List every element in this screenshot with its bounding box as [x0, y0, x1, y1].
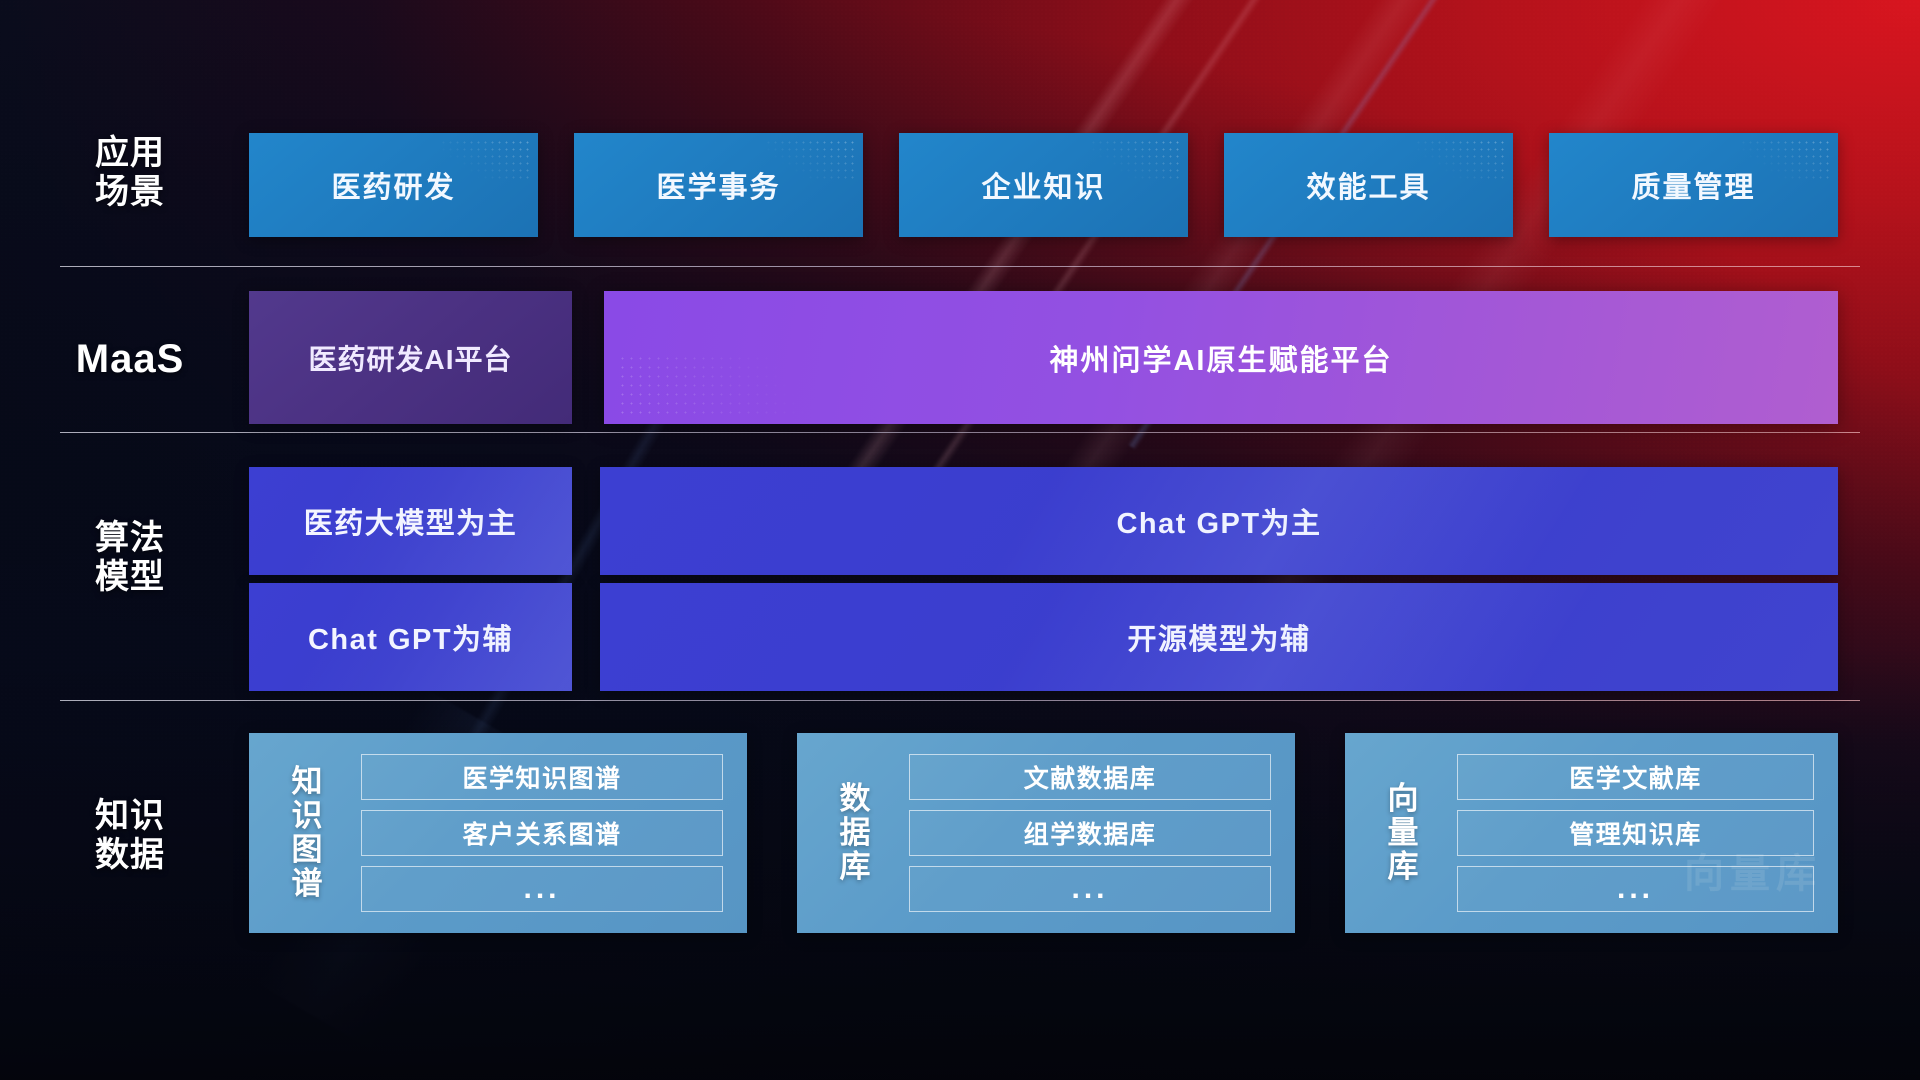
- divider-scenarios-maas: [60, 266, 1860, 267]
- maas-platform-card-shenzhou[interactable]: 神州问学AI原生赋能平台: [604, 291, 1838, 424]
- row-label-algorithm-models: 算法模型: [60, 519, 200, 598]
- row-label-text: 应用场景: [60, 134, 200, 213]
- row-label-maas: MaaS: [60, 336, 200, 382]
- knowledge-item-more[interactable]: ...: [361, 866, 723, 912]
- knowledge-panel-knowledge-graph[interactable]: 知识图谱 医学知识图谱 客户关系图谱 ...: [249, 733, 747, 933]
- panel-title-text: 数据库: [840, 781, 871, 884]
- knowledge-item-label: 文献数据库: [1024, 759, 1157, 795]
- row-label-knowledge-data: 知识数据: [60, 797, 200, 876]
- knowledge-item-label: ...: [1617, 872, 1654, 906]
- panel-title-text: 知识图谱: [292, 764, 323, 901]
- scenario-card-3-label: 企业知识: [981, 164, 1105, 206]
- knowledge-panel-knowledge-graph-items: 医学知识图谱 客户关系图谱 ...: [343, 754, 747, 912]
- knowledge-item-label: 管理知识库: [1569, 815, 1702, 851]
- maas-platform-card-shenzhou-label: 神州问学AI原生赋能平台: [1049, 337, 1392, 379]
- model-card-chatgpt-secondary[interactable]: Chat GPT为辅: [249, 583, 572, 691]
- knowledge-item-label: ...: [523, 872, 560, 906]
- model-card-chatgpt-primary-label: Chat GPT为主: [1116, 500, 1321, 542]
- knowledge-panel-vector-store-items: 医学文献库 管理知识库 ...: [1439, 754, 1838, 912]
- knowledge-panel-knowledge-graph-title: 知识图谱: [271, 765, 343, 901]
- knowledge-panel-database-title: 数据库: [819, 782, 891, 884]
- scenario-card-1-label: 医药研发: [331, 164, 455, 206]
- scenario-card-3[interactable]: 企业知识: [899, 133, 1188, 237]
- model-card-chatgpt-primary[interactable]: Chat GPT为主: [600, 467, 1838, 575]
- knowledge-item-more[interactable]: ...: [909, 866, 1271, 912]
- knowledge-item[interactable]: 文献数据库: [909, 754, 1271, 800]
- scenario-card-5[interactable]: 质量管理: [1549, 133, 1838, 237]
- model-card-chatgpt-secondary-label: Chat GPT为辅: [308, 616, 513, 658]
- row-label-text: 知识数据: [60, 797, 200, 876]
- divider-maas-models: [60, 432, 1860, 433]
- knowledge-panel-database[interactable]: 数据库 文献数据库 组学数据库 ...: [797, 733, 1295, 933]
- knowledge-item[interactable]: 客户关系图谱: [361, 810, 723, 856]
- model-card-medical-primary[interactable]: 医药大模型为主: [249, 467, 572, 575]
- scenario-card-1[interactable]: 医药研发: [249, 133, 538, 237]
- scenario-card-4-label: 效能工具: [1306, 164, 1430, 206]
- divider-models-knowledge: [60, 700, 1860, 701]
- model-card-opensource-secondary[interactable]: 开源模型为辅: [600, 583, 1838, 691]
- knowledge-item[interactable]: 医学知识图谱: [361, 754, 723, 800]
- knowledge-item-more[interactable]: ...: [1457, 866, 1814, 912]
- knowledge-panel-vector-store-title: 向量库: [1367, 782, 1439, 884]
- knowledge-item-label: ...: [1071, 872, 1108, 906]
- row-label-text: 算法模型: [60, 519, 200, 598]
- model-card-opensource-secondary-label: 开源模型为辅: [1127, 616, 1310, 658]
- knowledge-item-label: 医学知识图谱: [462, 759, 621, 795]
- maas-platform-card-medical-rnd-label: 医药研发AI平台: [308, 338, 512, 378]
- model-card-medical-primary-label: 医药大模型为主: [304, 500, 518, 542]
- maas-platform-card-medical-rnd[interactable]: 医药研发AI平台: [249, 291, 572, 424]
- scenario-card-2-label: 医学事务: [656, 164, 780, 206]
- knowledge-item[interactable]: 医学文献库: [1457, 754, 1814, 800]
- knowledge-item[interactable]: 组学数据库: [909, 810, 1271, 856]
- row-label-application-scenarios: 应用场景: [60, 134, 200, 213]
- row-label-text: MaaS: [60, 336, 200, 382]
- knowledge-item-label: 组学数据库: [1024, 815, 1157, 851]
- knowledge-panel-database-items: 文献数据库 组学数据库 ...: [891, 754, 1295, 912]
- scenario-card-2[interactable]: 医学事务: [574, 133, 863, 237]
- knowledge-item-label: 客户关系图谱: [462, 815, 621, 851]
- knowledge-item[interactable]: 管理知识库: [1457, 810, 1814, 856]
- scenario-card-5-label: 质量管理: [1631, 164, 1755, 206]
- knowledge-panel-vector-store[interactable]: 向量库 向量库 医学文献库 管理知识库 ...: [1345, 733, 1838, 933]
- panel-title-text: 向量库: [1388, 781, 1419, 884]
- knowledge-item-label: 医学文献库: [1569, 759, 1702, 795]
- scenario-card-4[interactable]: 效能工具: [1224, 133, 1513, 237]
